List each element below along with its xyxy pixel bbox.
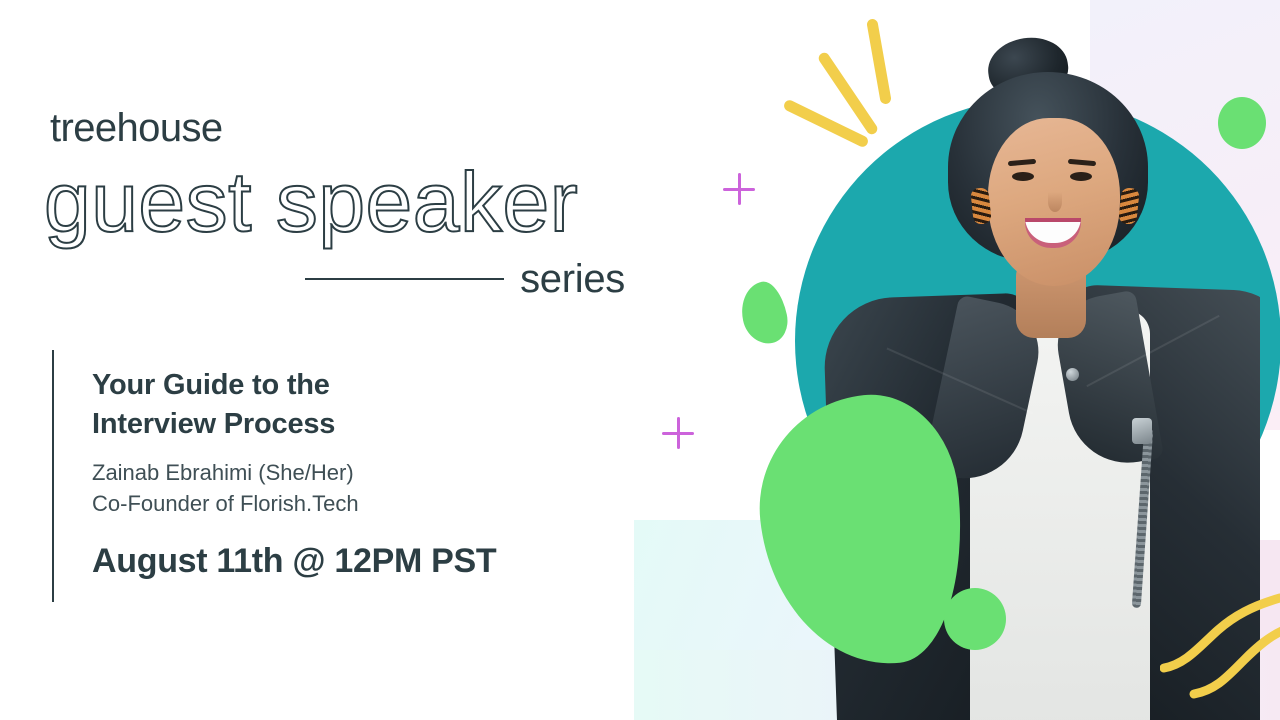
vertical-accent-bar — [52, 350, 54, 602]
speaker-role: Co-Founder of Florish.Tech — [92, 488, 632, 519]
nose-shape — [1048, 192, 1062, 212]
green-blob-small-shape — [736, 278, 792, 348]
jacket-snap-button — [1066, 368, 1079, 381]
talk-title: Your Guide to the Interview Process — [92, 366, 632, 443]
series-row: series — [305, 256, 625, 302]
plus-mark — [662, 417, 694, 449]
treehouse-wordmark: treehouse — [50, 108, 223, 148]
series-label: series — [520, 259, 625, 299]
series-divider-rule — [305, 278, 504, 280]
plus-mark — [723, 173, 755, 205]
guest-speaker-headline: guest speaker — [44, 160, 578, 244]
green-dot-shape — [944, 588, 1006, 650]
event-info-block: Your Guide to the Interview Process Zain… — [92, 366, 632, 578]
eye-right — [1070, 172, 1092, 181]
yellow-squiggle-marks — [1160, 590, 1280, 710]
event-datetime: August 11th @ 12PM PST — [92, 544, 632, 578]
speaker-name: Zainab Ebrahimi (She/Her) — [92, 457, 632, 488]
zipper-pull — [1132, 418, 1152, 444]
promo-slide: treehouse guest speaker series Your Guid… — [0, 0, 1280, 720]
green-dot-shape-topright — [1218, 97, 1266, 149]
eye-left — [1012, 172, 1034, 181]
earring-left — [970, 187, 992, 225]
